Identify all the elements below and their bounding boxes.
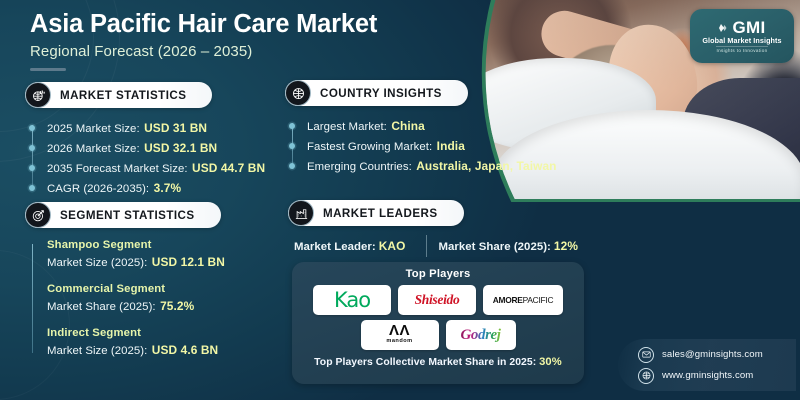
segment-metric-label: Market Share (2025): <box>47 301 156 313</box>
kao-logo-text: Kao <box>334 290 370 311</box>
header: Asia Pacific Hair Care Market Regional F… <box>30 10 377 71</box>
market-statistics-title: MARKET STATISTICS <box>60 89 186 102</box>
timeline-dot-icon <box>29 185 35 191</box>
segment-group: Shampoo Segment Market Size (2025): USD … <box>47 237 225 272</box>
segment-metric-value: USD 4.6 BN <box>152 343 218 357</box>
market-share-label: Market Share (2025): <box>438 241 550 253</box>
factory-icon <box>288 200 314 226</box>
shiseido-logo[interactable]: Shiseido <box>398 285 476 315</box>
contact-email-line[interactable]: sales@gminsights.com <box>638 347 796 363</box>
top-players-row-2: ΛΛ mandom Godrej <box>361 320 516 350</box>
stat-value: USD 44.7 BN <box>192 161 265 175</box>
timeline-axis <box>32 125 33 191</box>
contact-email: sales@gminsights.com <box>662 349 763 360</box>
mandom-logo-text: mandom <box>386 339 412 345</box>
segment-statistics-title: SEGMENT STATISTICS <box>60 209 195 222</box>
stat-label: 2035 Forecast Market Size: <box>47 163 188 175</box>
timeline-dot-icon <box>289 143 295 149</box>
segment-group: Commercial Segment Market Share (2025): … <box>47 281 225 316</box>
section-market-statistics: MARKET STATISTICS 2025 Market Size: USD … <box>25 82 265 198</box>
gmi-logo-subtitle: Global Market Insights <box>702 37 781 44</box>
gmi-logo[interactable]: GMI Global Market Insights Insights to I… <box>690 9 794 63</box>
envelope-icon <box>638 347 654 363</box>
insight-label: Largest Market: <box>307 121 387 133</box>
stat-row: CAGR (2026-2035): 3.7% <box>47 178 265 198</box>
gmi-logo-tagline: Insights to Innovation <box>716 46 767 54</box>
gmi-logo-wordmark: GMI <box>718 19 765 36</box>
market-leader-value: KAO <box>379 239 406 253</box>
market-statistics-list: 2025 Market Size: USD 31 BN 2026 Market … <box>25 118 265 198</box>
country-insights-title: COUNTRY INSIGHTS <box>320 87 442 100</box>
page-subtitle: Regional Forecast (2026 – 2035) <box>30 43 377 60</box>
insight-row: Fastest Growing Market: India <box>307 136 557 156</box>
insight-value: India <box>437 139 465 153</box>
godrej-logo[interactable]: Godrej <box>446 320 516 350</box>
segment-statistics-header: SEGMENT STATISTICS <box>25 202 221 228</box>
market-share-cell: Market Share (2025): 12% <box>438 239 578 253</box>
segment-title: Commercial Segment <box>47 281 225 297</box>
amorepacific-logo[interactable]: AMOREPACIFIC <box>483 285 563 315</box>
globe-chart-icon <box>25 82 51 108</box>
mandom-logo-mark: ΛΛ mandom <box>386 325 412 345</box>
segment-statistics-list: Shampoo Segment Market Size (2025): USD … <box>25 237 225 360</box>
stat-value: USD 31 BN <box>144 121 207 135</box>
segment-metric-value: USD 12.1 BN <box>152 255 225 269</box>
section-segment-statistics: SEGMENT STATISTICS Shampoo Segment Marke… <box>25 202 225 360</box>
insight-row: Largest Market: China <box>307 116 557 136</box>
market-statistics-header: MARKET STATISTICS <box>25 82 212 108</box>
contact-website-line[interactable]: www.gminsights.com <box>638 368 796 384</box>
timeline-axis <box>32 244 33 353</box>
amorepacific-logo-text: AMOREPACIFIC <box>493 296 554 304</box>
godrej-logo-text: Godrej <box>460 328 500 343</box>
collective-share: Top Players Collective Market Share in 2… <box>314 356 562 368</box>
insight-row: Emerging Countries: Australia, Japan, Ta… <box>307 156 557 176</box>
segment-title-text: Indirect Segment <box>47 327 141 339</box>
stat-value: 3.7% <box>154 181 182 195</box>
country-insights-header: COUNTRY INSIGHTS <box>285 80 468 106</box>
insight-label: Emerging Countries: <box>307 161 412 173</box>
top-players-title: Top Players <box>406 268 471 280</box>
segment-title-text: Commercial Segment <box>47 283 165 295</box>
divider <box>426 235 427 257</box>
stat-label: CAGR (2026-2035): <box>47 183 149 195</box>
shiseido-logo-text: Shiseido <box>415 293 460 307</box>
mandom-logo[interactable]: ΛΛ mandom <box>361 320 439 350</box>
insight-value: China <box>391 119 425 133</box>
segment-title: Shampoo Segment <box>47 237 225 253</box>
stat-label: 2025 Market Size: <box>47 123 140 135</box>
segment-metric-label: Market Size (2025): <box>47 345 147 357</box>
segment-metric: Market Size (2025): USD 12.1 BN <box>47 253 225 272</box>
market-leader-label: Market Leader: <box>294 241 376 253</box>
market-leaders-summary: Market Leader: KAO Market Share (2025): … <box>288 235 578 257</box>
section-country-insights: COUNTRY INSIGHTS Largest Market: China F… <box>285 80 557 176</box>
target-chart-icon <box>25 202 51 228</box>
top-players-row-1: Kao Shiseido AMOREPACIFIC <box>313 285 563 315</box>
stat-row: 2035 Forecast Market Size: USD 44.7 BN <box>47 158 265 178</box>
section-market-leaders: MARKET LEADERS Market Leader: KAO Market… <box>288 200 578 257</box>
timeline-dot-icon <box>289 163 295 169</box>
segment-group: Indirect Segment Market Size (2025): USD… <box>47 325 225 360</box>
title-accent-rule <box>30 68 66 71</box>
gmi-diamond-icon <box>718 21 730 33</box>
page-title: Asia Pacific Hair Care Market <box>30 10 377 40</box>
segment-metric: Market Size (2025): USD 4.6 BN <box>47 341 225 360</box>
market-share-value: 12% <box>554 239 578 253</box>
contact-block: sales@gminsights.com www.gminsights.com <box>618 339 796 391</box>
market-leaders-header: MARKET LEADERS <box>288 200 464 226</box>
insight-value: Australia, Japan, Taiwan <box>416 159 556 173</box>
segment-title-text: Shampoo Segment <box>47 239 152 251</box>
stat-label: 2026 Market Size: <box>47 143 140 155</box>
segment-title: Indirect Segment <box>47 325 225 341</box>
timeline-dot-icon <box>289 123 295 129</box>
infographic-root: GMI Global Market Insights Insights to I… <box>0 0 800 400</box>
segment-metric-label: Market Size (2025): <box>47 257 147 269</box>
segment-metric: Market Share (2025): 75.2% <box>47 297 225 316</box>
mandom-chevrons-icon: ΛΛ <box>389 325 410 337</box>
country-insights-list: Largest Market: China Fastest Growing Ma… <box>285 116 557 176</box>
market-leaders-title: MARKET LEADERS <box>323 207 438 220</box>
top-players-panel: Top Players Kao Shiseido AMOREPACIFIC ΛΛ… <box>292 262 584 384</box>
collective-share-label: Top Players Collective Market Share in 2… <box>314 357 536 368</box>
timeline-dot-icon <box>29 165 35 171</box>
timeline-dot-icon <box>29 145 35 151</box>
contact-website: www.gminsights.com <box>662 370 753 381</box>
stat-row: 2025 Market Size: USD 31 BN <box>47 118 265 138</box>
market-leader-cell: Market Leader: KAO <box>294 239 426 253</box>
timeline-dot-icon <box>29 125 35 131</box>
kao-logo[interactable]: Kao <box>313 285 391 315</box>
collective-share-value: 30% <box>539 356 562 368</box>
gmi-logo-name: GMI <box>732 19 765 36</box>
stat-value: USD 32.1 BN <box>144 141 217 155</box>
stat-row: 2026 Market Size: USD 32.1 BN <box>47 138 265 158</box>
globe-icon <box>638 368 654 384</box>
insight-label: Fastest Growing Market: <box>307 141 432 153</box>
globe-icon <box>285 80 311 106</box>
segment-metric-value: 75.2% <box>160 299 194 313</box>
